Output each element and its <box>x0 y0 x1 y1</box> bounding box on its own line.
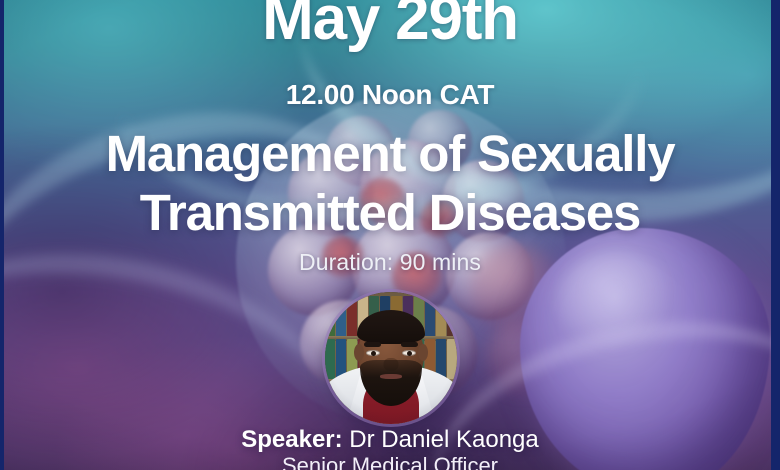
speaker-name-line: Speaker: Dr Daniel Kaonga <box>0 426 780 454</box>
speaker-role: Senior Medical Officer <box>0 453 780 470</box>
event-duration: Duration: 90 mins <box>0 249 780 276</box>
event-date: May 29th <box>0 0 780 53</box>
event-time: 12.00 Noon CAT <box>0 79 780 111</box>
speaker-portrait-image <box>325 292 457 424</box>
portrait-shading <box>325 292 457 424</box>
speaker-name: Dr Daniel Kaonga <box>349 426 538 453</box>
speaker-portrait <box>325 292 457 424</box>
event-title-line-2: Transmitted Diseases <box>0 183 780 242</box>
event-title-line-1: Management of Sexually <box>0 124 780 183</box>
event-title: Management of Sexually Transmitted Disea… <box>0 124 780 242</box>
webinar-poster: May 29th 12.00 Noon CAT Management of Se… <box>0 0 780 470</box>
speaker-label: Speaker: <box>241 426 342 453</box>
